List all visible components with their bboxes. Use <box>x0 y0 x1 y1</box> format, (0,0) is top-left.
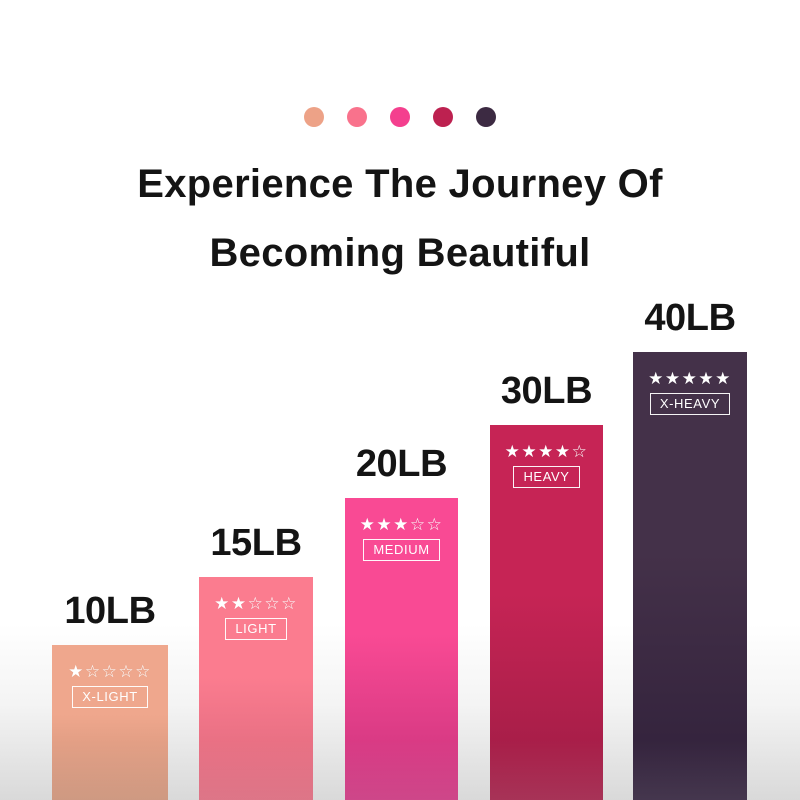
bar-group-40lb[interactable]: 40LB★★★★★X-HEAVY <box>633 297 747 800</box>
bar-value-label: 10LB <box>52 590 168 633</box>
bar-bottom-fade <box>490 740 603 800</box>
bar-40lb[interactable]: ★★★★★X-HEAVY <box>633 352 747 800</box>
bar-value-label: 40LB <box>633 297 747 340</box>
bar-badge: ★★★☆☆MEDIUM <box>345 516 458 561</box>
star-rating-icon: ★★★☆☆ <box>360 516 444 533</box>
resistance-tag: X-LIGHT <box>72 686 147 708</box>
bar-value-label: 30LB <box>490 370 603 413</box>
bar-group-20lb[interactable]: 20LB★★★☆☆MEDIUM <box>345 443 458 800</box>
star-rating-icon: ★★☆☆☆ <box>214 595 298 612</box>
bar-badge: ★★★★★X-HEAVY <box>633 370 747 415</box>
bar-value-label: 20LB <box>345 443 458 486</box>
bar-30lb[interactable]: ★★★★☆HEAVY <box>490 425 603 800</box>
bar-20lb[interactable]: ★★★☆☆MEDIUM <box>345 498 458 800</box>
bar-group-30lb[interactable]: 30LB★★★★☆HEAVY <box>490 370 603 800</box>
bar-bottom-fade <box>633 740 747 800</box>
resistance-level-bar-chart: 10LB★☆☆☆☆X-LIGHT15LB★★☆☆☆LIGHT20LB★★★☆☆M… <box>0 0 800 800</box>
bar-group-10lb[interactable]: 10LB★☆☆☆☆X-LIGHT <box>52 590 168 800</box>
bar-15lb[interactable]: ★★☆☆☆LIGHT <box>199 577 313 800</box>
resistance-tag: LIGHT <box>225 618 286 640</box>
bar-badge: ★★★★☆HEAVY <box>490 443 603 488</box>
bar-10lb[interactable]: ★☆☆☆☆X-LIGHT <box>52 645 168 800</box>
star-rating-icon: ★★★★★ <box>648 370 732 387</box>
product-infographic: Experience The Journey Of Becoming Beaut… <box>0 0 800 800</box>
bar-badge: ★★☆☆☆LIGHT <box>199 595 313 640</box>
star-rating-icon: ★☆☆☆☆ <box>68 663 152 680</box>
bar-bottom-fade <box>52 740 168 800</box>
bar-value-label: 15LB <box>199 522 313 565</box>
bar-bottom-fade <box>345 740 458 800</box>
star-rating-icon: ★★★★☆ <box>505 443 589 460</box>
resistance-tag: HEAVY <box>513 466 579 488</box>
bar-bottom-fade <box>199 740 313 800</box>
resistance-tag: MEDIUM <box>363 539 439 561</box>
bar-group-15lb[interactable]: 15LB★★☆☆☆LIGHT <box>199 522 313 800</box>
bar-badge: ★☆☆☆☆X-LIGHT <box>52 663 168 708</box>
resistance-tag: X-HEAVY <box>650 393 730 415</box>
